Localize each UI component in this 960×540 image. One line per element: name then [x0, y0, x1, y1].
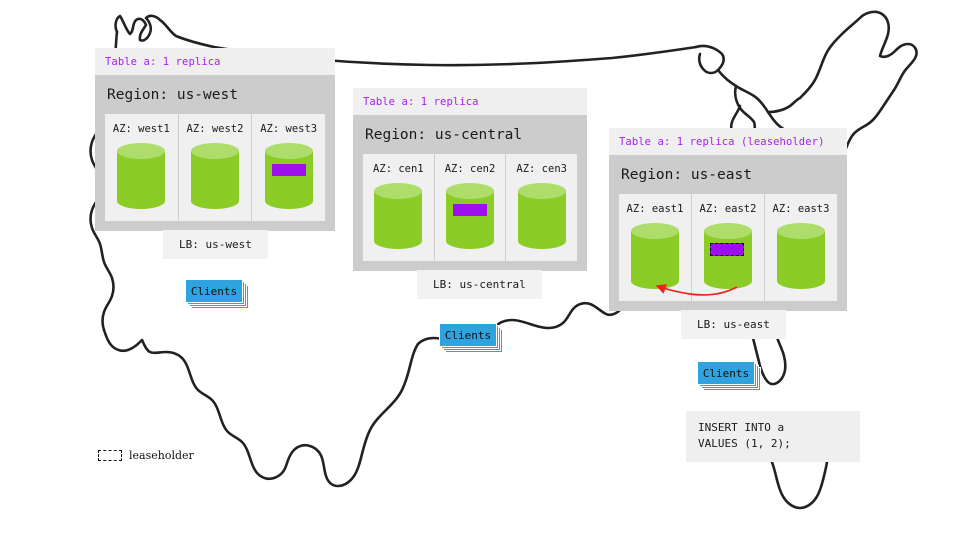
az-cell-east2[interactable]: AZ: east2	[692, 194, 765, 301]
region-panel-us-central: Table a: 1 replica Region: us-central AZ…	[353, 88, 587, 271]
node-cylinder-west2[interactable]	[191, 143, 239, 209]
az-label-cen2: AZ: cen2	[435, 163, 506, 175]
region-title-us-west: Region: us-west	[105, 75, 325, 114]
region-header-us-central: Table a: 1 replica	[353, 88, 587, 115]
leaseholder-range-east2	[710, 243, 744, 256]
diagram-canvas: Table a: 1 replica Region: us-west AZ: w…	[0, 0, 960, 540]
region-header-us-west: Table a: 1 replica	[95, 48, 335, 75]
az-cell-cen3[interactable]: AZ: cen3	[506, 154, 577, 261]
node-cylinder-cen3[interactable]	[518, 183, 566, 249]
leaseholder-swatch-icon	[98, 450, 122, 461]
region-body-us-central: Region: us-central AZ: cen1 AZ: cen2	[353, 115, 587, 271]
replica-range-west3	[272, 164, 306, 176]
az-strip-us-central: AZ: cen1 AZ: cen2	[363, 154, 577, 261]
clients-label-us-east: Clients	[697, 361, 755, 385]
az-label-cen3: AZ: cen3	[506, 163, 577, 175]
node-cylinder-east3[interactable]	[777, 223, 825, 289]
region-header-us-east: Table a: 1 replica (leaseholder)	[609, 128, 847, 155]
replica-range-cen2	[453, 204, 487, 216]
region-panel-us-west: Table a: 1 replica Region: us-west AZ: w…	[95, 48, 335, 231]
az-strip-us-east: AZ: east1 AZ: east2	[619, 194, 837, 301]
clients-stack-us-west[interactable]: Clients	[185, 279, 243, 303]
node-cylinder-cen1[interactable]	[374, 183, 422, 249]
az-cell-west1[interactable]: AZ: west1	[105, 114, 179, 221]
load-balancer-us-west[interactable]: LB: us-west	[163, 230, 268, 259]
cylinder-top	[631, 223, 679, 239]
cylinder-top	[704, 223, 752, 239]
map-seg-lake-erie	[768, 98, 800, 112]
az-cell-east1[interactable]: AZ: east1	[619, 194, 692, 301]
node-cylinder-west3[interactable]	[265, 143, 313, 209]
sql-statement-box: INSERT INTO a VALUES (1, 2);	[686, 411, 860, 462]
load-balancer-us-central[interactable]: LB: us-central	[417, 270, 542, 299]
az-label-west2: AZ: west2	[179, 123, 252, 135]
legend: leaseholder	[98, 449, 194, 462]
az-cell-cen1[interactable]: AZ: cen1	[363, 154, 435, 261]
map-seg-southwest	[104, 330, 182, 358]
node-cylinder-east1[interactable]	[631, 223, 679, 289]
az-label-cen1: AZ: cen1	[363, 163, 434, 175]
clients-stack-us-central[interactable]: Clients	[439, 323, 497, 347]
cylinder-top	[265, 143, 313, 159]
az-label-west1: AZ: west1	[105, 123, 178, 135]
cylinder-top	[117, 143, 165, 159]
az-cell-cen2[interactable]: AZ: cen2	[435, 154, 507, 261]
cylinder-top	[446, 183, 494, 199]
region-body-us-east: Region: us-east AZ: east1 AZ: east2	[609, 155, 847, 311]
clients-label-us-central: Clients	[439, 323, 497, 347]
clients-label-us-west: Clients	[185, 279, 243, 303]
az-cell-east3[interactable]: AZ: east3	[765, 194, 837, 301]
node-cylinder-east2[interactable]	[704, 223, 752, 289]
node-cylinder-west1[interactable]	[117, 143, 165, 209]
legend-label: leaseholder	[129, 449, 194, 462]
az-label-west3: AZ: west3	[252, 123, 325, 135]
az-cell-west3[interactable]: AZ: west3	[252, 114, 325, 221]
az-strip-us-west: AZ: west1 AZ: west2 AZ	[105, 114, 325, 221]
load-balancer-us-east[interactable]: LB: us-east	[681, 310, 786, 339]
clients-stack-us-east[interactable]: Clients	[697, 361, 755, 385]
region-body-us-west: Region: us-west AZ: west1 AZ: west2	[95, 75, 335, 231]
node-cylinder-cen2[interactable]	[446, 183, 494, 249]
map-seg-great-lakes	[696, 46, 724, 73]
az-label-east1: AZ: east1	[619, 203, 691, 215]
az-label-east2: AZ: east2	[692, 203, 764, 215]
az-label-east3: AZ: east3	[765, 203, 837, 215]
cylinder-top	[518, 183, 566, 199]
region-title-us-east: Region: us-east	[619, 155, 837, 194]
cylinder-top	[777, 223, 825, 239]
az-cell-west2[interactable]: AZ: west2	[179, 114, 253, 221]
cylinder-top	[191, 143, 239, 159]
region-title-us-central: Region: us-central	[363, 115, 577, 154]
region-panel-us-east: Table a: 1 replica (leaseholder) Region:…	[609, 128, 847, 311]
cylinder-top	[374, 183, 422, 199]
map-seg-texas	[182, 344, 418, 486]
